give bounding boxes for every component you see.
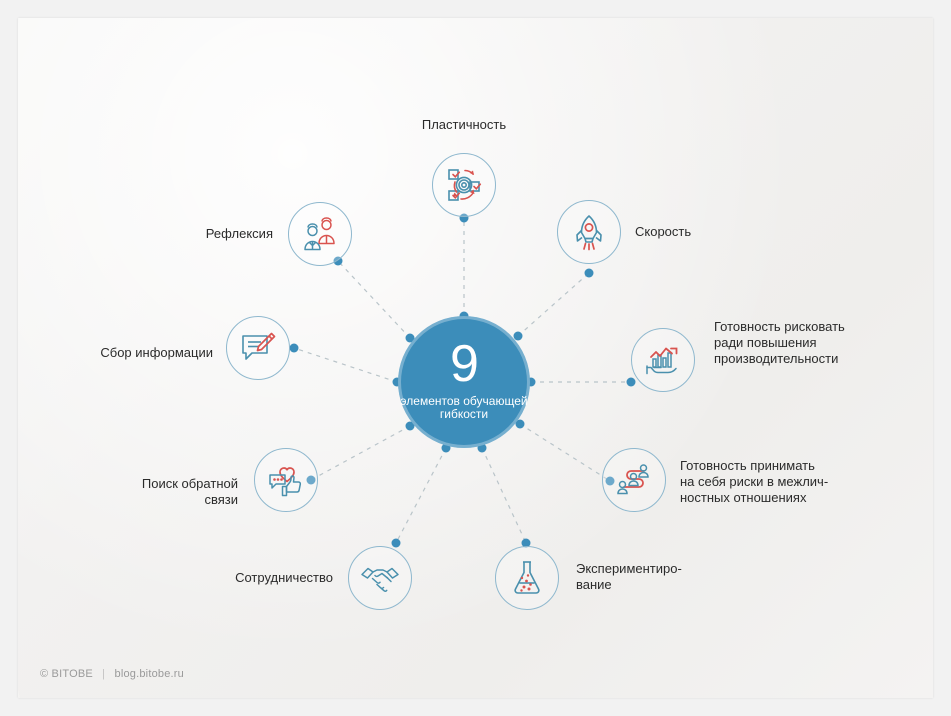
infographic-poster: 9 элементов обучающей гибкости [18, 18, 933, 698]
label-plasticity: Пластичность [384, 117, 544, 133]
label-reflection: Рефлексия [148, 226, 273, 242]
rocket-icon [569, 212, 609, 252]
hub-circle: 9 элементов обучающей гибкости [398, 316, 530, 448]
hand-growth-chart-icon [642, 339, 684, 381]
node-plasticity[interactable] [432, 153, 496, 217]
two-people-icon [299, 213, 341, 255]
people-network-icon [613, 459, 655, 501]
label-risk-performance: Готовность рисковать ради повышения прои… [714, 319, 914, 367]
target-cycle-icon [443, 164, 485, 206]
hub-caption: элементов обучающей гибкости [398, 395, 530, 421]
label-experimentation: Экспериментиро- вание [576, 561, 746, 593]
footer-separator: | [102, 668, 105, 680]
footer-site-link[interactable]: blog.bitobe.ru [115, 668, 184, 680]
label-collaboration: Сотрудничество [178, 570, 333, 586]
node-speed[interactable] [557, 200, 621, 264]
node-collaboration[interactable] [348, 546, 412, 610]
heart-thumbsup-chat-icon [265, 459, 307, 501]
footer: © BITOBE | blog.bitobe.ru [40, 668, 184, 680]
node-information-gathering[interactable] [226, 316, 290, 380]
label-feedback-seeking: Поиск обратной связи [78, 476, 238, 508]
label-speed: Скорость [635, 224, 785, 240]
label-interpersonal-risk: Готовность принимать на себя риски в меж… [680, 458, 890, 506]
node-experimentation[interactable] [495, 546, 559, 610]
label-information-gathering: Сбор информации [73, 345, 213, 361]
node-feedback-seeking[interactable] [254, 448, 318, 512]
node-risk-performance[interactable] [631, 328, 695, 392]
handshake-icon [358, 556, 402, 600]
node-reflection[interactable] [288, 202, 352, 266]
diagram-stage: 9 элементов обучающей гибкости [18, 18, 933, 698]
node-interpersonal-risk[interactable] [602, 448, 666, 512]
speech-pencil-icon [237, 327, 279, 369]
footer-copyright: © BITOBE [40, 668, 93, 680]
hub-number: 9 [450, 340, 478, 388]
flask-icon [507, 558, 547, 598]
